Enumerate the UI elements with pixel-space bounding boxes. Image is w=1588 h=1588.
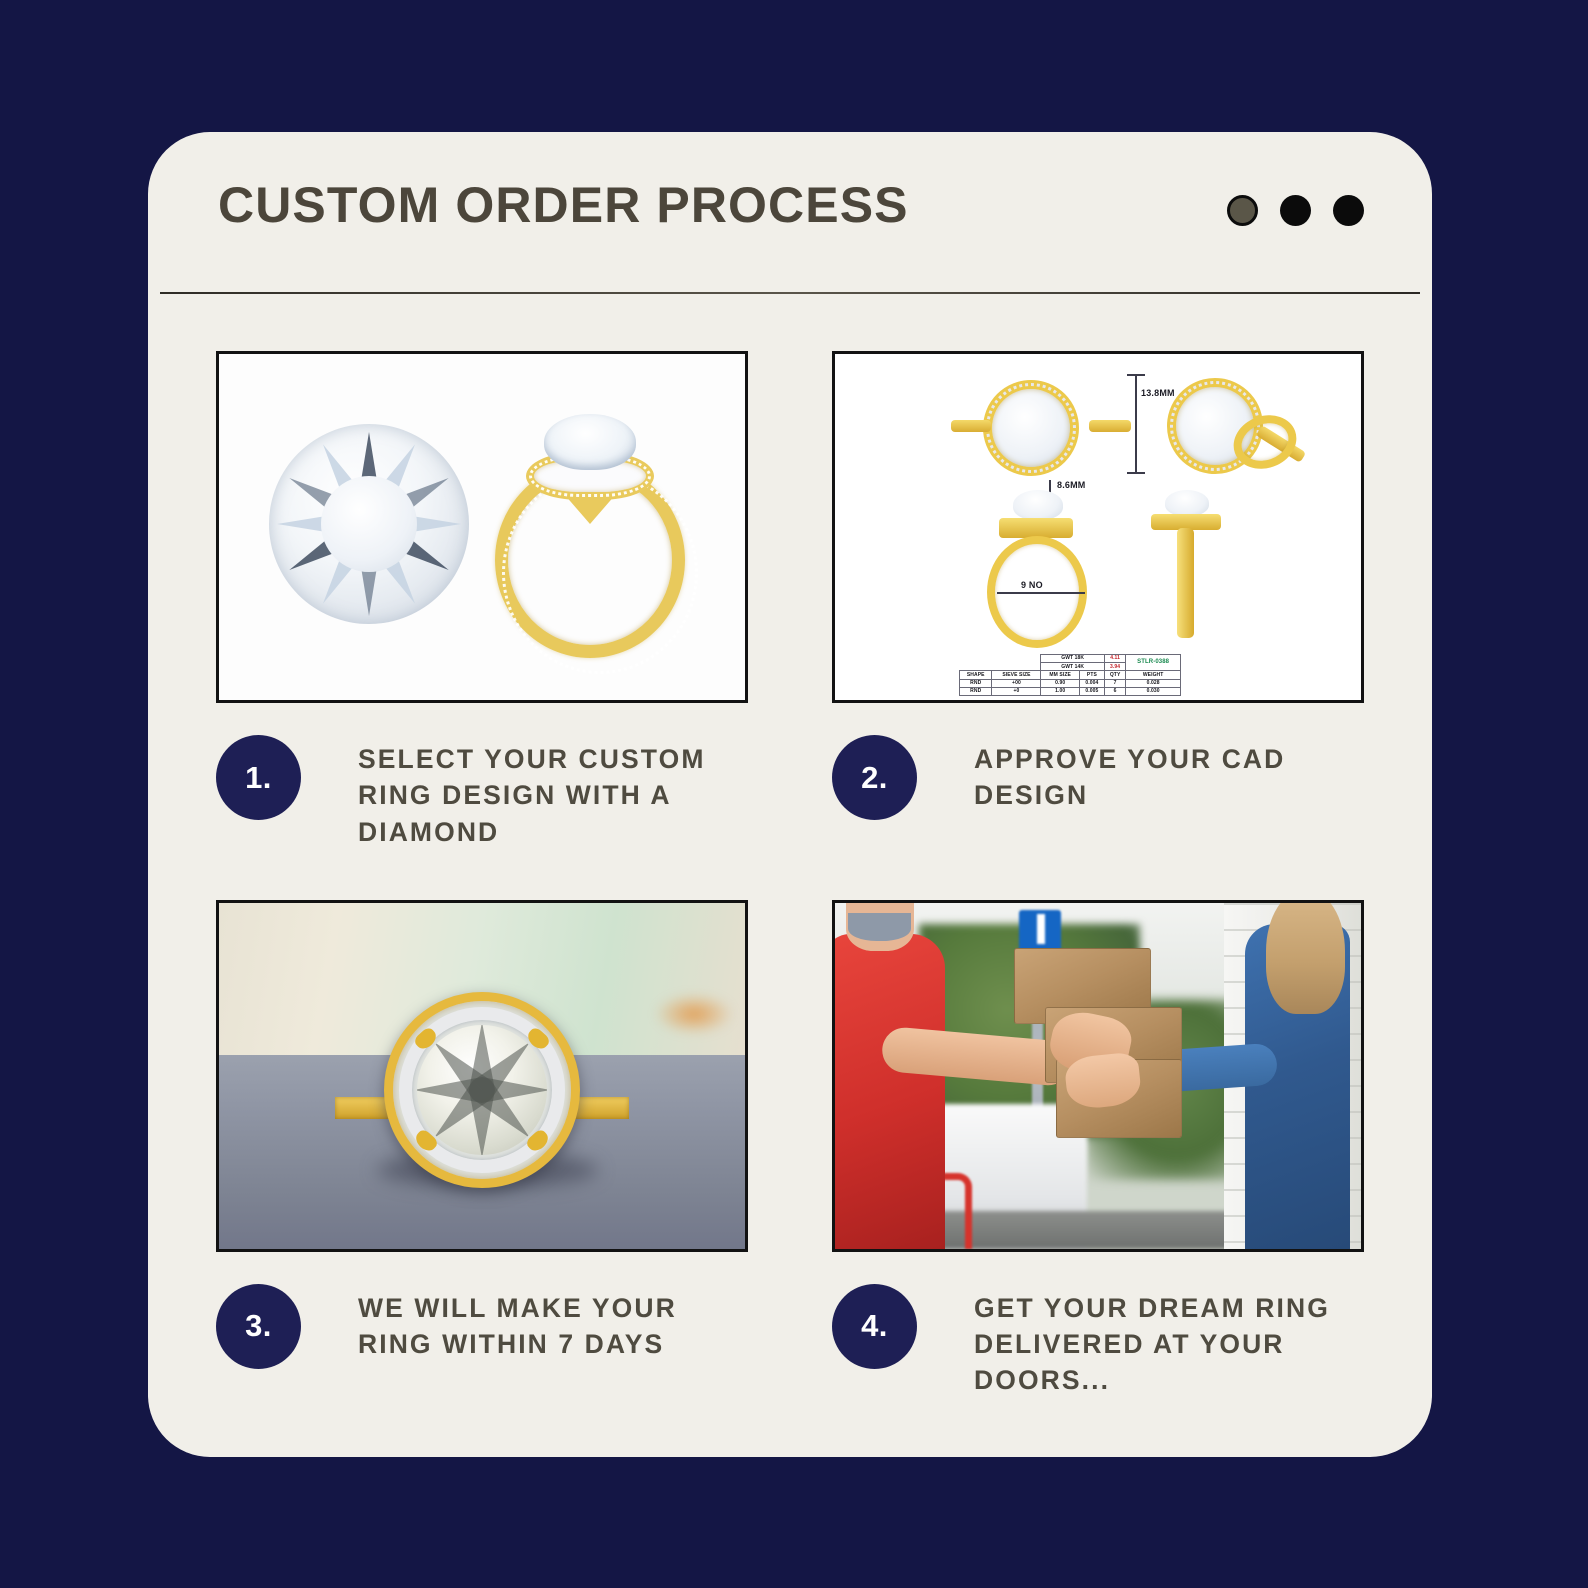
cad-col-mm-size: MM SIZE — [1041, 671, 1079, 679]
cad-profile-stone-icon — [1013, 490, 1063, 520]
step-4-badge: 4. — [832, 1284, 917, 1369]
cad-dim-stone-size: 8.6MM — [1057, 480, 1086, 490]
delivery-scene — [835, 903, 1361, 1249]
face-mask-icon — [848, 913, 911, 941]
cad-sheet-background — [835, 354, 1361, 700]
window-dot-black-2-icon[interactable] — [1333, 195, 1364, 226]
step-1: 1. SELECT YOUR CUSTOM RING DESIGN WITH A… — [216, 351, 748, 850]
cad-profile-head-icon — [999, 518, 1073, 538]
window-dot-olive-icon[interactable] — [1227, 195, 1258, 226]
step-4-caption: 4. GET YOUR DREAM RING DELIVERED AT YOUR… — [832, 1284, 1364, 1399]
cad-dim-outer-diameter: 13.8MM — [1141, 388, 1175, 398]
cad-dim-line-outer — [1135, 374, 1137, 474]
step-3-text: WE WILL MAKE YOUR RING WITHIN 7 DAYS — [358, 1290, 748, 1363]
courier-figure — [835, 934, 945, 1249]
step-4-text: GET YOUR DREAM RING DELIVERED AT YOUR DO… — [974, 1290, 1364, 1399]
step-4: 4. GET YOUR DREAM RING DELIVERED AT YOUR… — [832, 900, 1364, 1399]
finished-ring-photo — [216, 900, 748, 1252]
process-card: CUSTOM ORDER PROCESS — [148, 132, 1432, 1457]
cad-gwt18k-label: GWT 18K — [1041, 654, 1105, 662]
cad-table-header-row: SHAPE SIEVE SIZE MM SIZE PTS QTY WEIGHT — [960, 671, 1181, 679]
warm-light-glow — [654, 993, 734, 1035]
diamond-and-ring-photo — [216, 351, 748, 703]
cad-design-drawing: 13.8MM 8.6MM 9 NO — [832, 351, 1364, 703]
step-3: 3. WE WILL MAKE YOUR RING WITHIN 7 DAYS — [216, 900, 748, 1399]
step-2-text: APPROVE YOUR CAD DESIGN — [974, 741, 1364, 814]
cad-col-pts: PTS — [1079, 671, 1104, 679]
card-header: CUSTOM ORDER PROCESS — [148, 132, 1432, 294]
window-controls — [1227, 195, 1364, 226]
cad-col-shape: SHAPE — [960, 671, 992, 679]
cad-dim-ring-size: 9 NO — [1021, 580, 1043, 590]
cad-gwt18k-value: 4.11 — [1104, 654, 1125, 662]
cad-dim-line-ringsize — [997, 592, 1085, 594]
page-title: CUSTOM ORDER PROCESS — [218, 176, 909, 234]
step-1-caption: 1. SELECT YOUR CUSTOM RING DESIGN WITH A… — [216, 735, 748, 850]
cad-sku: STLR-0388 — [1126, 654, 1181, 671]
step-3-caption: 3. WE WILL MAKE YOUR RING WITHIN 7 DAYS — [216, 1284, 748, 1369]
step-2-caption: 2. APPROVE YOUR CAD DESIGN — [832, 735, 1364, 820]
gold-ring-profile-icon — [479, 400, 701, 658]
window-dot-black-1-icon[interactable] — [1280, 195, 1311, 226]
blue-street-sign — [1019, 910, 1061, 952]
ring-photo-scene — [219, 903, 745, 1249]
step-3-badge: 3. — [216, 1284, 301, 1369]
recipient-hair — [1266, 903, 1345, 1014]
cad-face-view-ring-icon — [983, 380, 1079, 476]
step-1-badge: 1. — [216, 735, 301, 820]
cad-table-row: RND +00 0.90 0.004 7 0.028 — [960, 679, 1181, 687]
step-2: 13.8MM 8.6MM 9 NO — [832, 351, 1364, 850]
loose-diamond-icon — [269, 424, 469, 624]
cad-gwt14k-value: 3.94 — [1104, 663, 1125, 671]
steps-grid: 1. SELECT YOUR CUSTOM RING DESIGN WITH A… — [216, 351, 1364, 1399]
cad-col-sieve-size: SIEVE SIZE — [992, 671, 1041, 679]
cad-section-stone-icon — [1165, 490, 1209, 516]
delivery-handoff-photo — [832, 900, 1364, 1252]
cad-col-qty: QTY — [1104, 671, 1125, 679]
cad-col-weight: WEIGHT — [1126, 671, 1181, 679]
step-1-text: SELECT YOUR CUSTOM RING DESIGN WITH A DI… — [358, 741, 748, 850]
cad-spec-table: GWT 18K 4.11 STLR-0388 GWT 14K 3.94 SHAP… — [959, 654, 1181, 696]
cad-table-row: RND +0 1.00 0.005 6 0.030 — [960, 687, 1181, 695]
cad-section-shank-icon — [1177, 528, 1194, 638]
step-2-badge: 2. — [832, 735, 917, 820]
header-divider — [160, 292, 1420, 294]
cad-gwt14k-label: GWT 14K — [1041, 663, 1105, 671]
halo-ring-icon — [384, 992, 580, 1188]
